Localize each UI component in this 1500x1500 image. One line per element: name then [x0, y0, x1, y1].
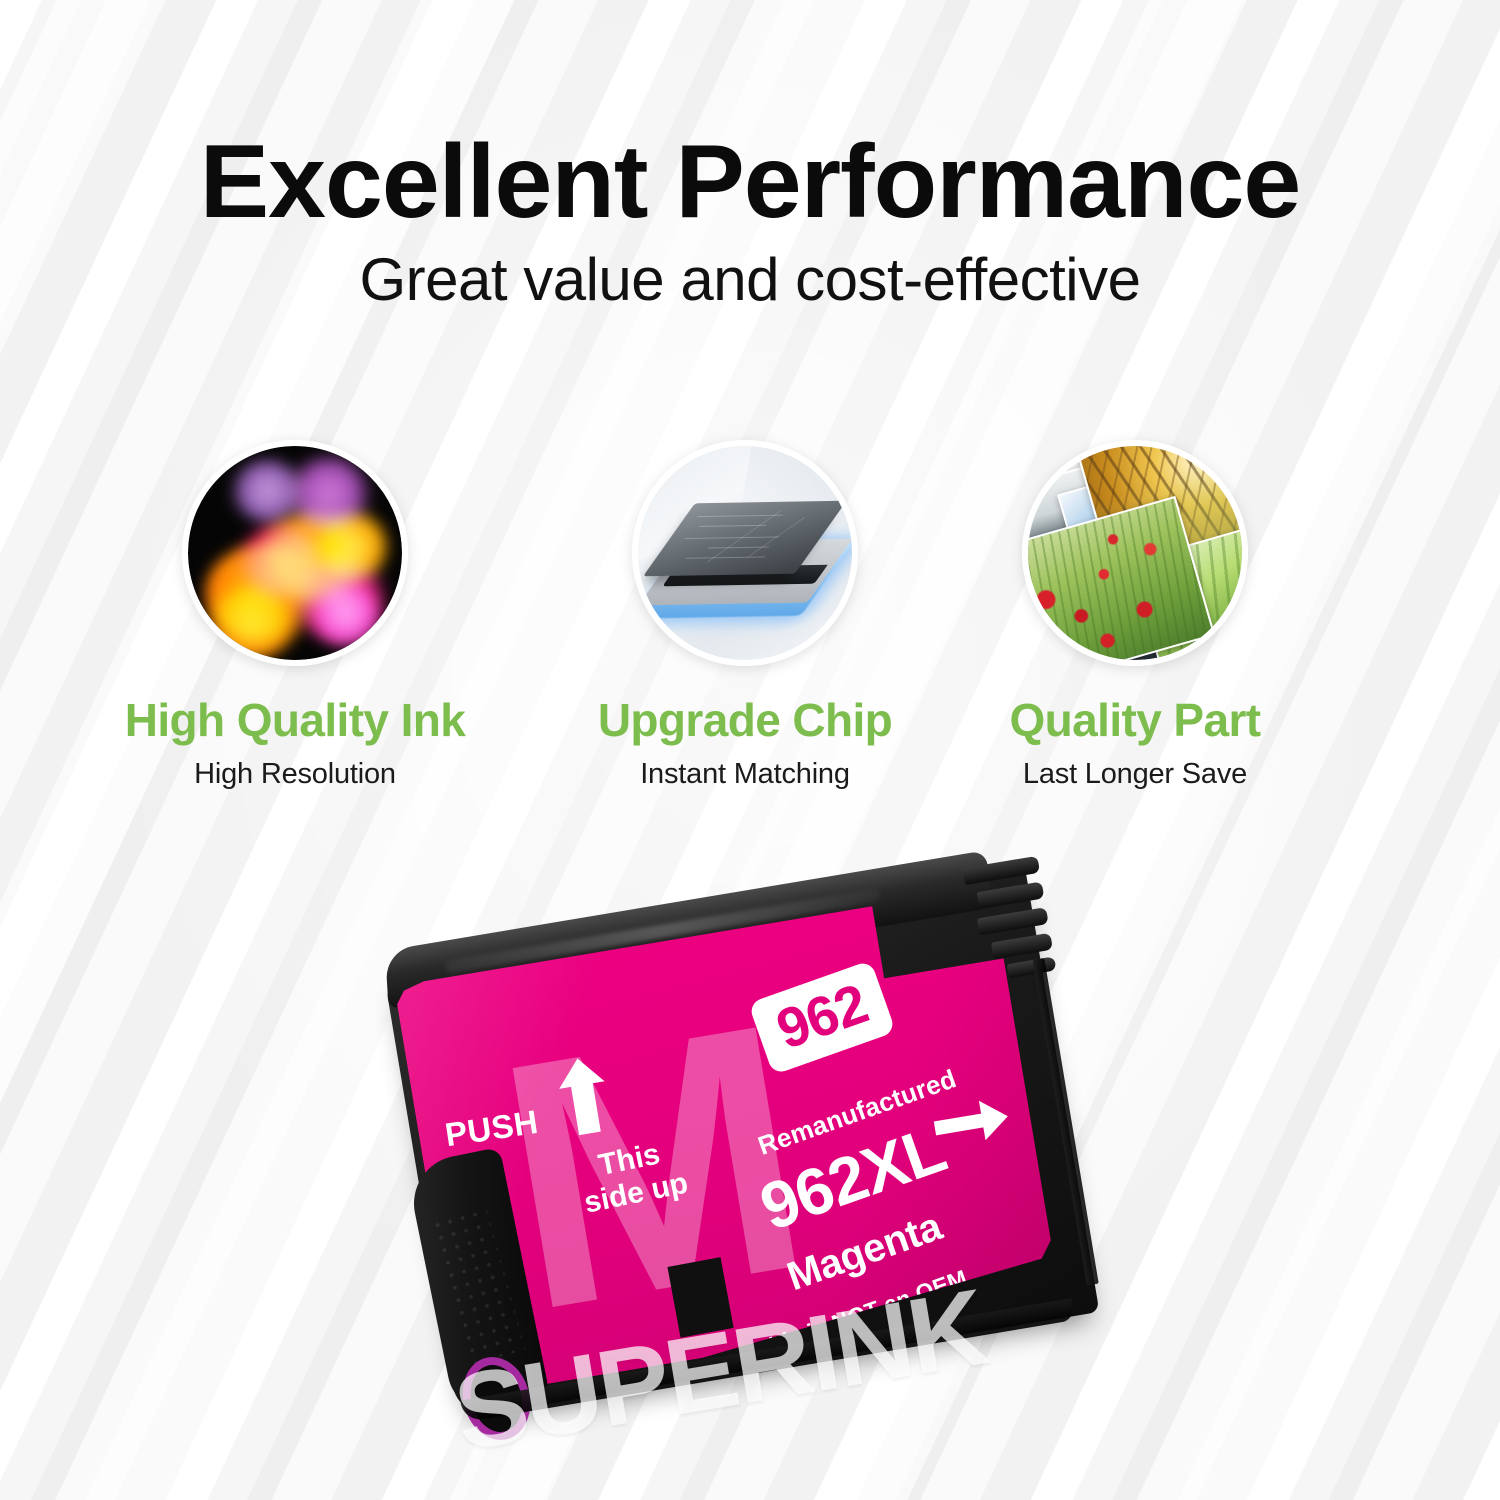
- feature-row: High Quality Ink High Resolution: [140, 440, 1370, 830]
- feature-item-upgrade-chip: Upgrade Chip Instant Matching: [545, 440, 945, 791]
- feature-title: High Quality Ink: [95, 696, 495, 746]
- feature-title: Quality Part: [935, 696, 1335, 746]
- chip-icon: [632, 440, 858, 666]
- header-block: Excellent Performance Great value and co…: [0, 128, 1500, 311]
- feature-subtitle: High Resolution: [95, 758, 495, 791]
- feature-title: Upgrade Chip: [545, 696, 945, 746]
- feature-subtitle: Instant Matching: [545, 758, 945, 791]
- feature-subtitle: Last Longer Save: [935, 758, 1335, 791]
- ink-splash-icon: [182, 440, 408, 666]
- page-title: Excellent Performance: [0, 128, 1500, 236]
- product-image: M PUSH This side up 962 Remanufactured 9…: [395, 880, 1105, 1420]
- product-marketing-banner: Excellent Performance Great value and co…: [0, 0, 1500, 1500]
- feature-item-quality-part: Quality Part Last Longer Save: [935, 440, 1335, 791]
- feature-item-high-quality-ink: High Quality Ink High Resolution: [95, 440, 495, 791]
- page-subtitle: Great value and cost-effective: [0, 248, 1500, 311]
- photo-collage-icon: [1022, 440, 1248, 666]
